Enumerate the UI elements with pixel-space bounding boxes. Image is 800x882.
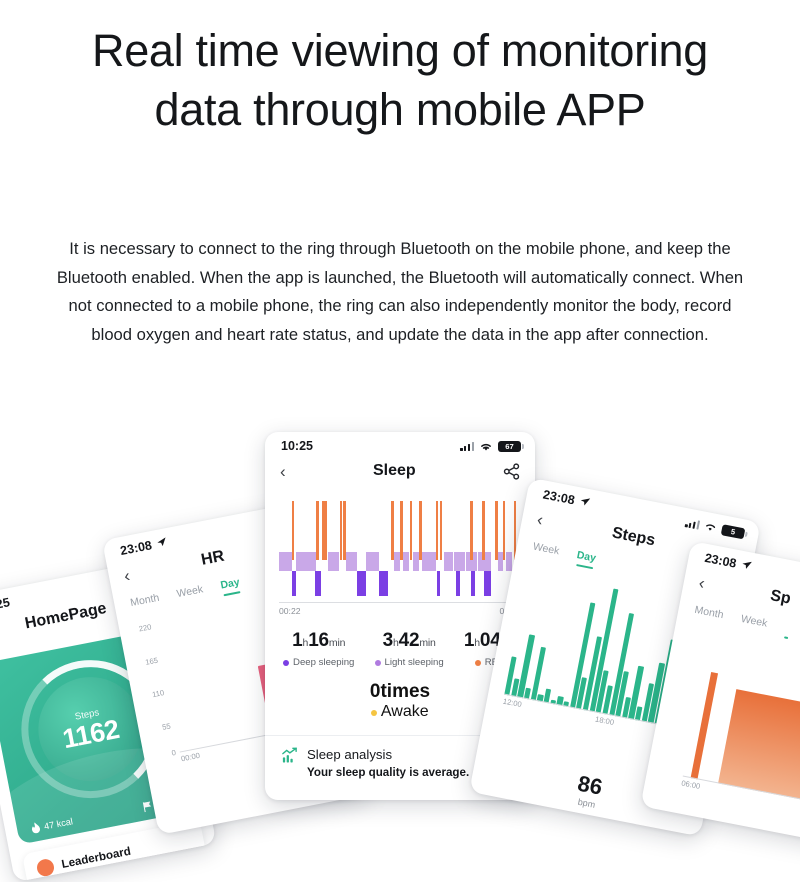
back-icon[interactable]: ‹ <box>123 567 132 585</box>
hypnogram-segment-light <box>413 552 419 571</box>
wifi-icon <box>703 521 718 533</box>
kcal-value: 47 kcal <box>43 816 73 831</box>
x-tick: 00:00 <box>180 751 201 768</box>
tab-day[interactable]: Day <box>576 549 597 564</box>
stat-deep-label: Deep sleeping <box>283 657 354 668</box>
hypnogram-segment-rem <box>503 501 505 560</box>
steps-ring-value: 1162 <box>60 715 121 754</box>
sleep-status-bar: 10:25 67 <box>265 432 535 455</box>
hypnogram-segment-deep <box>315 571 321 596</box>
flame-icon <box>30 822 41 835</box>
legend-dot-rem <box>475 660 481 666</box>
promo-page: Real time viewing of monitoring data thr… <box>0 0 800 800</box>
hypnogram-segment-light <box>296 552 315 571</box>
hypnogram-segment-light <box>279 552 292 571</box>
sleep-analysis-text: Sleep analysis Your sleep quality is ave… <box>307 747 469 779</box>
sleep-hypnogram <box>279 501 521 596</box>
hypnogram-segment-rem <box>400 501 402 560</box>
sleep-timeline-axis: 00:22 06:25 <box>279 602 521 616</box>
hypnogram-segment-rem <box>436 501 438 560</box>
tab-day[interactable] <box>784 621 792 634</box>
hypnogram-segment-rem <box>316 501 318 560</box>
stat-light-label: Light sleeping <box>375 657 444 668</box>
sleep-navbar: ‹ Sleep <box>265 455 535 489</box>
wifi-icon <box>479 441 493 452</box>
location-arrow-icon <box>157 537 168 548</box>
hypnogram-segment-deep <box>379 571 388 596</box>
sleep-status-time: 10:25 <box>281 439 313 453</box>
spo-chart: 06:00 12:00 <box>654 630 800 821</box>
tab-week[interactable]: Week <box>176 583 204 600</box>
hypnogram-segment-deep <box>484 571 492 596</box>
hypnogram-segment-deep <box>437 571 440 596</box>
hypnogram-segment-rem <box>391 501 393 560</box>
hypnogram-segment-deep <box>357 571 365 596</box>
back-icon[interactable]: ‹ <box>697 574 706 592</box>
stat-light-value: 3h42min <box>375 630 444 652</box>
sleep-analysis-title: Sleep analysis <box>307 747 469 762</box>
hypnogram-segment-rem <box>470 501 472 560</box>
sleep-title: Sleep <box>373 462 416 480</box>
battery-icon: 5 <box>721 524 746 539</box>
stat-deep: 1h16min Deep sleeping <box>283 630 354 668</box>
hypnogram-segment-rem <box>440 501 442 560</box>
y-tick: 110 <box>151 688 165 699</box>
tab-month[interactable]: Month <box>129 592 160 609</box>
leaderboard-label: Leaderboard <box>60 845 131 871</box>
legend-dot-awake <box>371 710 377 716</box>
back-icon[interactable]: ‹ <box>280 463 286 480</box>
sleep-stats-row: 1h16min Deep sleeping 3h42min Light slee… <box>273 630 527 668</box>
hypnogram-segment-light <box>498 552 503 571</box>
leaderboard-icon <box>36 858 56 878</box>
hypnogram-segment-deep <box>471 571 475 596</box>
timeline-start: 00:22 <box>279 606 301 616</box>
hypnogram-segment-light <box>444 552 454 571</box>
spo-peak-bar <box>691 672 718 779</box>
signal-icon <box>460 441 474 451</box>
hypnogram-segment-light <box>422 552 436 571</box>
hypnogram-segment-light <box>394 552 400 571</box>
legend-dot-light <box>375 660 381 666</box>
battery-icon: 67 <box>498 441 521 452</box>
sleep-analysis-subtitle: Your sleep quality is average. <box>307 766 469 779</box>
spo-title: Sp <box>769 587 793 609</box>
hypnogram-segment-light <box>328 552 339 571</box>
hypnogram-segment-rem <box>343 501 345 560</box>
hr-title: HR <box>200 548 226 570</box>
tab-day[interactable]: Day <box>219 576 240 591</box>
hypnogram-segment-deep <box>456 571 460 596</box>
y-tick: 220 <box>138 623 152 634</box>
legend-dot-deep <box>283 660 289 666</box>
chart-bar <box>530 647 545 701</box>
x-tick: 06:00 <box>680 778 701 795</box>
hypnogram-segment-light <box>454 552 465 571</box>
hypnogram-segment-light <box>346 552 357 571</box>
location-arrow-icon <box>742 560 753 571</box>
tab-week[interactable]: Week <box>740 613 768 630</box>
hypnogram-segment-rem <box>340 501 342 560</box>
y-tick: 165 <box>144 655 158 666</box>
kcal-stat: 47 kcal <box>30 815 73 834</box>
tab-month[interactable]: Month <box>694 604 725 621</box>
page-headline: Real time viewing of monitoring data thr… <box>60 22 740 139</box>
x-tick: 12:00 <box>501 697 522 714</box>
stat-light: 3h42min Light sleeping <box>375 630 444 668</box>
hypnogram-segment-light <box>478 552 492 571</box>
stat-deep-value: 1h16min <box>283 630 354 652</box>
signal-icon <box>685 517 700 529</box>
tab-week[interactable]: Week <box>532 541 560 558</box>
page-description: It is necessary to connect to the ring t… <box>55 235 745 349</box>
back-icon[interactable]: ‹ <box>536 510 545 528</box>
location-arrow-icon <box>580 497 591 508</box>
hypnogram-segment-light <box>403 552 409 571</box>
hypnogram-segment-rem <box>482 501 484 560</box>
hypnogram-segment-rem <box>419 501 421 560</box>
hypnogram-segment-deep <box>292 571 296 596</box>
hypnogram-segment-light <box>506 552 512 571</box>
hypnogram-segment-rem <box>495 501 497 560</box>
hypnogram-segment-rem <box>322 501 328 560</box>
sleep-status-icons: 67 <box>460 441 521 452</box>
steps-title: Steps <box>610 524 656 550</box>
y-tick: 55 <box>161 721 171 731</box>
share-icon[interactable] <box>503 463 520 480</box>
chart-trend-icon <box>281 747 298 764</box>
home-title: HomePage <box>24 600 109 633</box>
hypnogram-segment-rem <box>292 501 294 560</box>
y-tick: 0 <box>171 748 177 758</box>
hypnogram-segment-rem <box>410 501 412 560</box>
x-tick: 18:00 <box>593 715 614 732</box>
hypnogram-segment-light <box>366 552 379 571</box>
